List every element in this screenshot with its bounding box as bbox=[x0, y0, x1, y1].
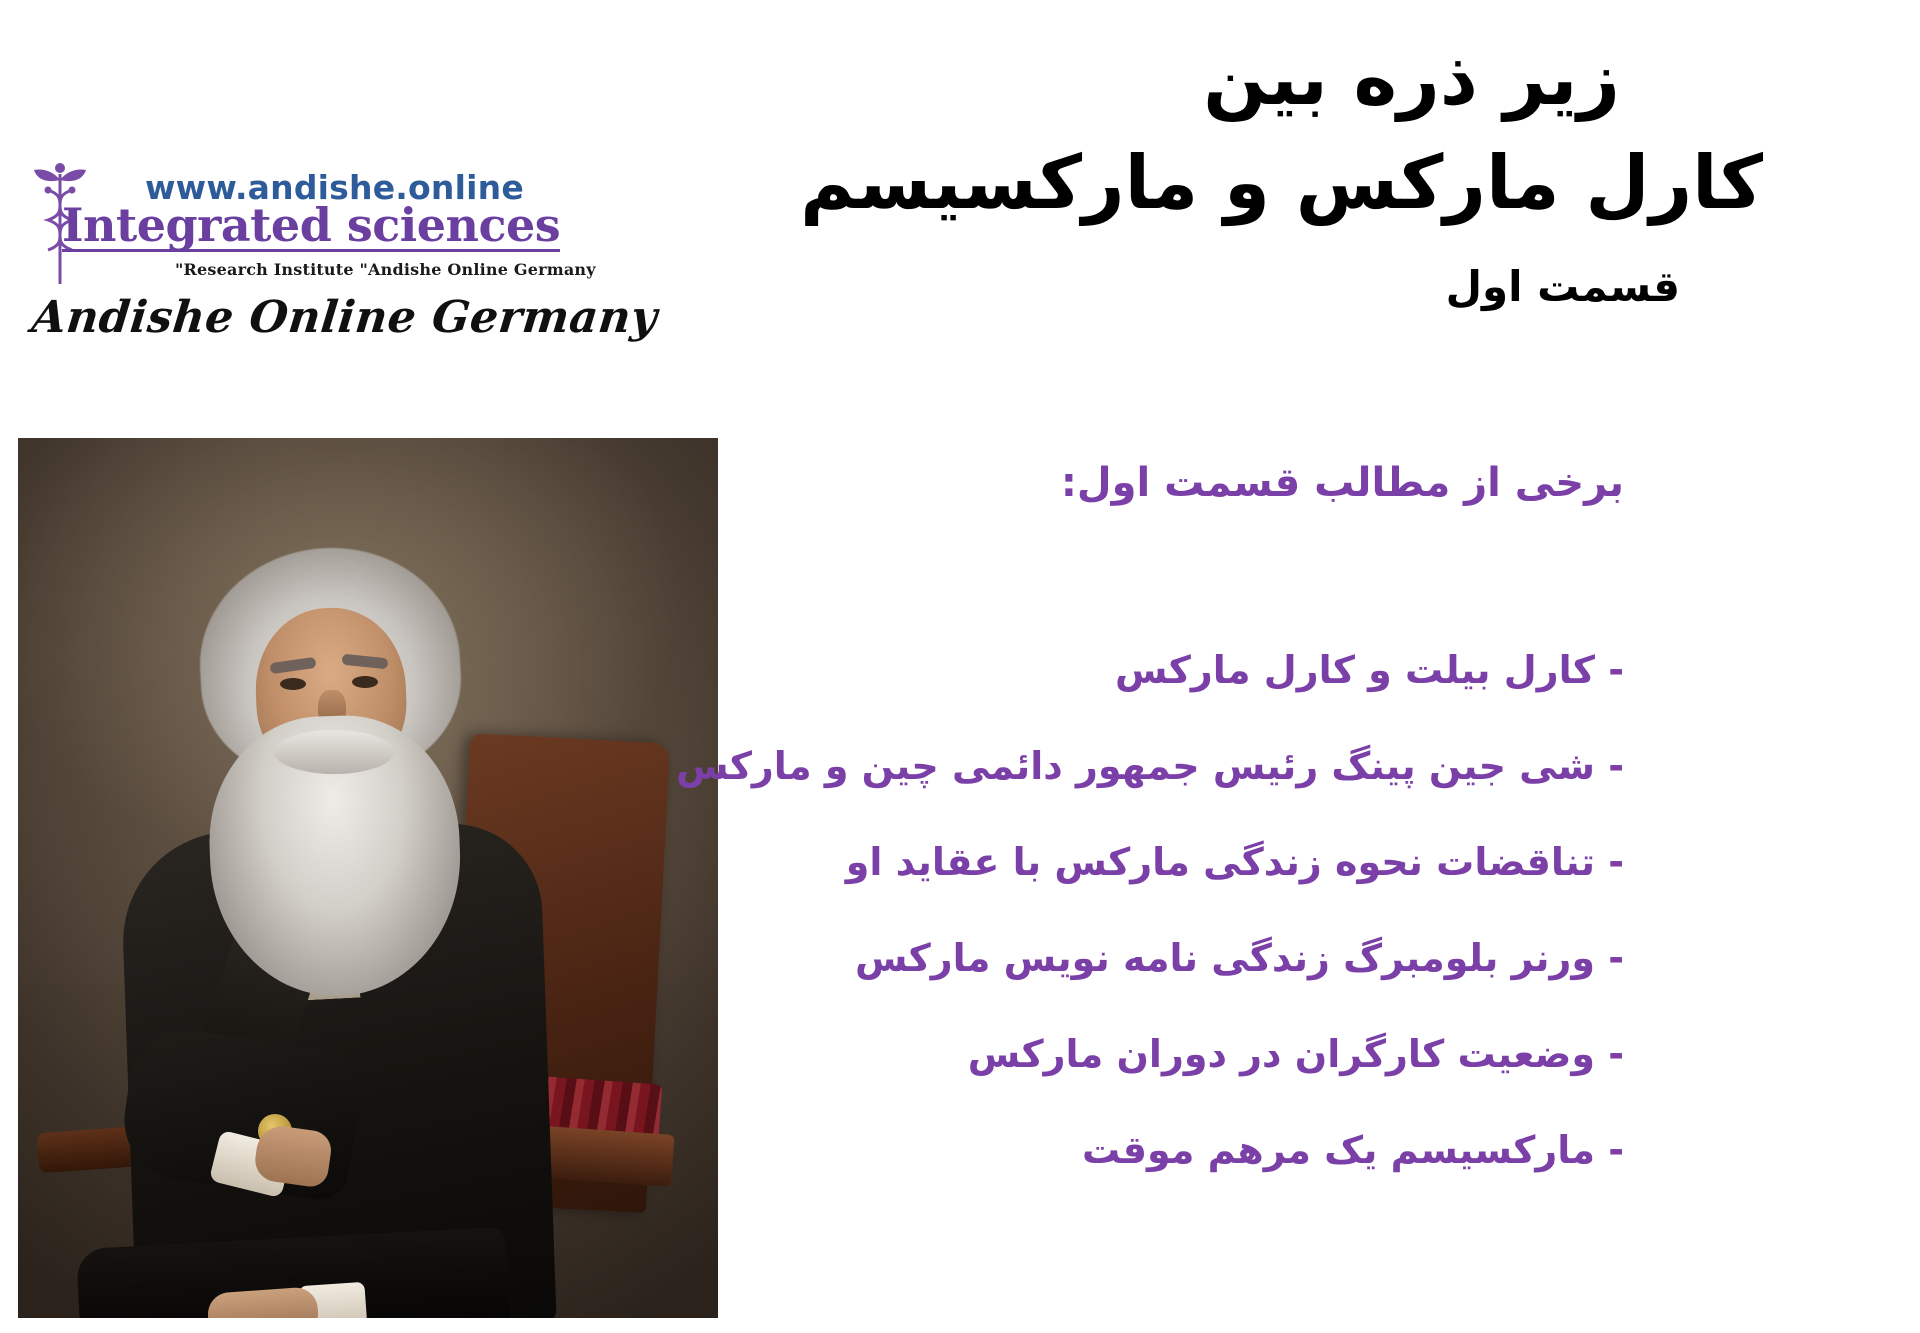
title-block: زیر ذره بین کارل مارکس و مارکسیسم قسمت ا… bbox=[1203, 36, 1620, 123]
title-line-2: کارل مارکس و مارکسیسم bbox=[800, 140, 1763, 227]
topics-list: - کارل بیلت و کارل مارکس - شی جین پینگ ر… bbox=[624, 648, 1624, 1224]
eye-left bbox=[280, 678, 306, 690]
logo-subtitle: Research Institute "Andishe Online Germa… bbox=[175, 260, 596, 279]
list-item: - تناقضات نحوه زندگی مارکس با عقاید او bbox=[624, 840, 1624, 884]
list-item: - مارکسیسم یک مرهم موقت bbox=[624, 1128, 1624, 1172]
mustache bbox=[274, 730, 394, 774]
title-line-1: زیر ذره بین bbox=[1203, 36, 1620, 123]
logo-block: www.andishe.online Integrated sciences R… bbox=[10, 160, 550, 370]
list-item: - ورنر بلومبرگ زندگی نامه نویس مارکس bbox=[624, 936, 1624, 980]
marx-portrait-image bbox=[18, 438, 718, 1318]
eye-right bbox=[352, 676, 378, 688]
list-item: - شی جین پینگ رئیس جمهور دائمی چین و مار… bbox=[624, 744, 1624, 788]
title-part-label: قسمت اول bbox=[1446, 262, 1680, 311]
list-item: - وضعیت کارگران در دوران مارکس bbox=[624, 1032, 1624, 1076]
logo-title: Integrated sciences bbox=[62, 202, 560, 252]
logo-script-name: Andishe Online Germany bbox=[29, 292, 659, 343]
list-item: - کارل بیلت و کارل مارکس bbox=[624, 648, 1624, 692]
content-heading: برخی از مطالب قسمت اول: bbox=[1061, 460, 1624, 506]
